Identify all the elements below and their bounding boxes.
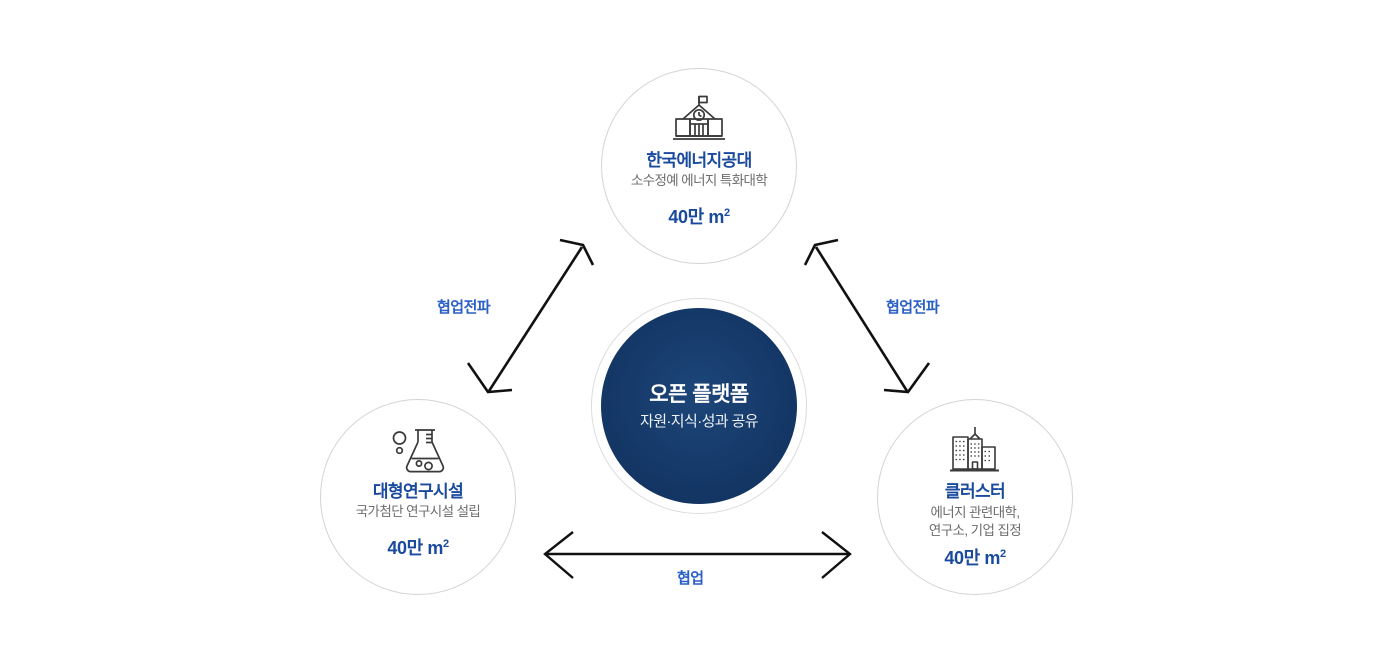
edge-label-left: 협업전파 xyxy=(437,296,490,317)
hub-open-platform[interactable]: 오픈 플랫폼 자원·지식·성과 공유 xyxy=(601,308,797,504)
node-subtitle-line2: 연구소, 기업 집정 xyxy=(929,522,1021,540)
metric-exponent: 2 xyxy=(443,538,449,550)
node-title: 한국에너지공대 xyxy=(646,150,751,171)
metric-exponent: 2 xyxy=(1000,548,1006,560)
hub-title: 오픈 플랫폼 xyxy=(649,382,748,408)
node-metric: 40만 m2 xyxy=(668,203,729,229)
metric-value: 40만 m xyxy=(668,207,724,227)
flask-icon xyxy=(390,424,446,476)
diagram-canvas: 한국에너지공대 소수정예 에너지 특화대학 40만 m2 xyxy=(0,0,1398,656)
node-research-facility[interactable]: 대형연구시설 국가첨단 연구시설 설립 40만 m2 xyxy=(320,399,516,595)
buildings-icon xyxy=(946,424,1004,476)
edge-label-bottom: 협업 xyxy=(677,567,704,588)
node-subtitle: 국가첨단 연구시설 설립 xyxy=(356,504,481,521)
metric-value: 40만 m xyxy=(387,538,443,558)
node-subtitle-line1: 에너지 관련대학, xyxy=(929,504,1021,522)
school-building-icon xyxy=(669,93,729,145)
metric-value: 40만 m xyxy=(944,548,1000,568)
node-cluster[interactable]: 클러스터 에너지 관련대학, 연구소, 기업 집정 40만 m2 xyxy=(877,399,1073,595)
node-title: 클러스터 xyxy=(945,481,1005,502)
node-metric: 40만 m2 xyxy=(944,544,1005,570)
metric-exponent: 2 xyxy=(724,207,730,219)
edge-label-right: 협업전파 xyxy=(886,296,939,317)
node-subtitle: 에너지 관련대학, 연구소, 기업 집정 xyxy=(929,504,1021,540)
hub-subtitle: 자원·지식·성과 공유 xyxy=(640,412,758,431)
node-subtitle: 소수정예 에너지 특화대학 xyxy=(631,173,767,190)
node-title: 대형연구시설 xyxy=(373,481,463,502)
node-energy-university[interactable]: 한국에너지공대 소수정예 에너지 특화대학 40만 m2 xyxy=(601,68,797,264)
node-metric: 40만 m2 xyxy=(387,534,448,560)
